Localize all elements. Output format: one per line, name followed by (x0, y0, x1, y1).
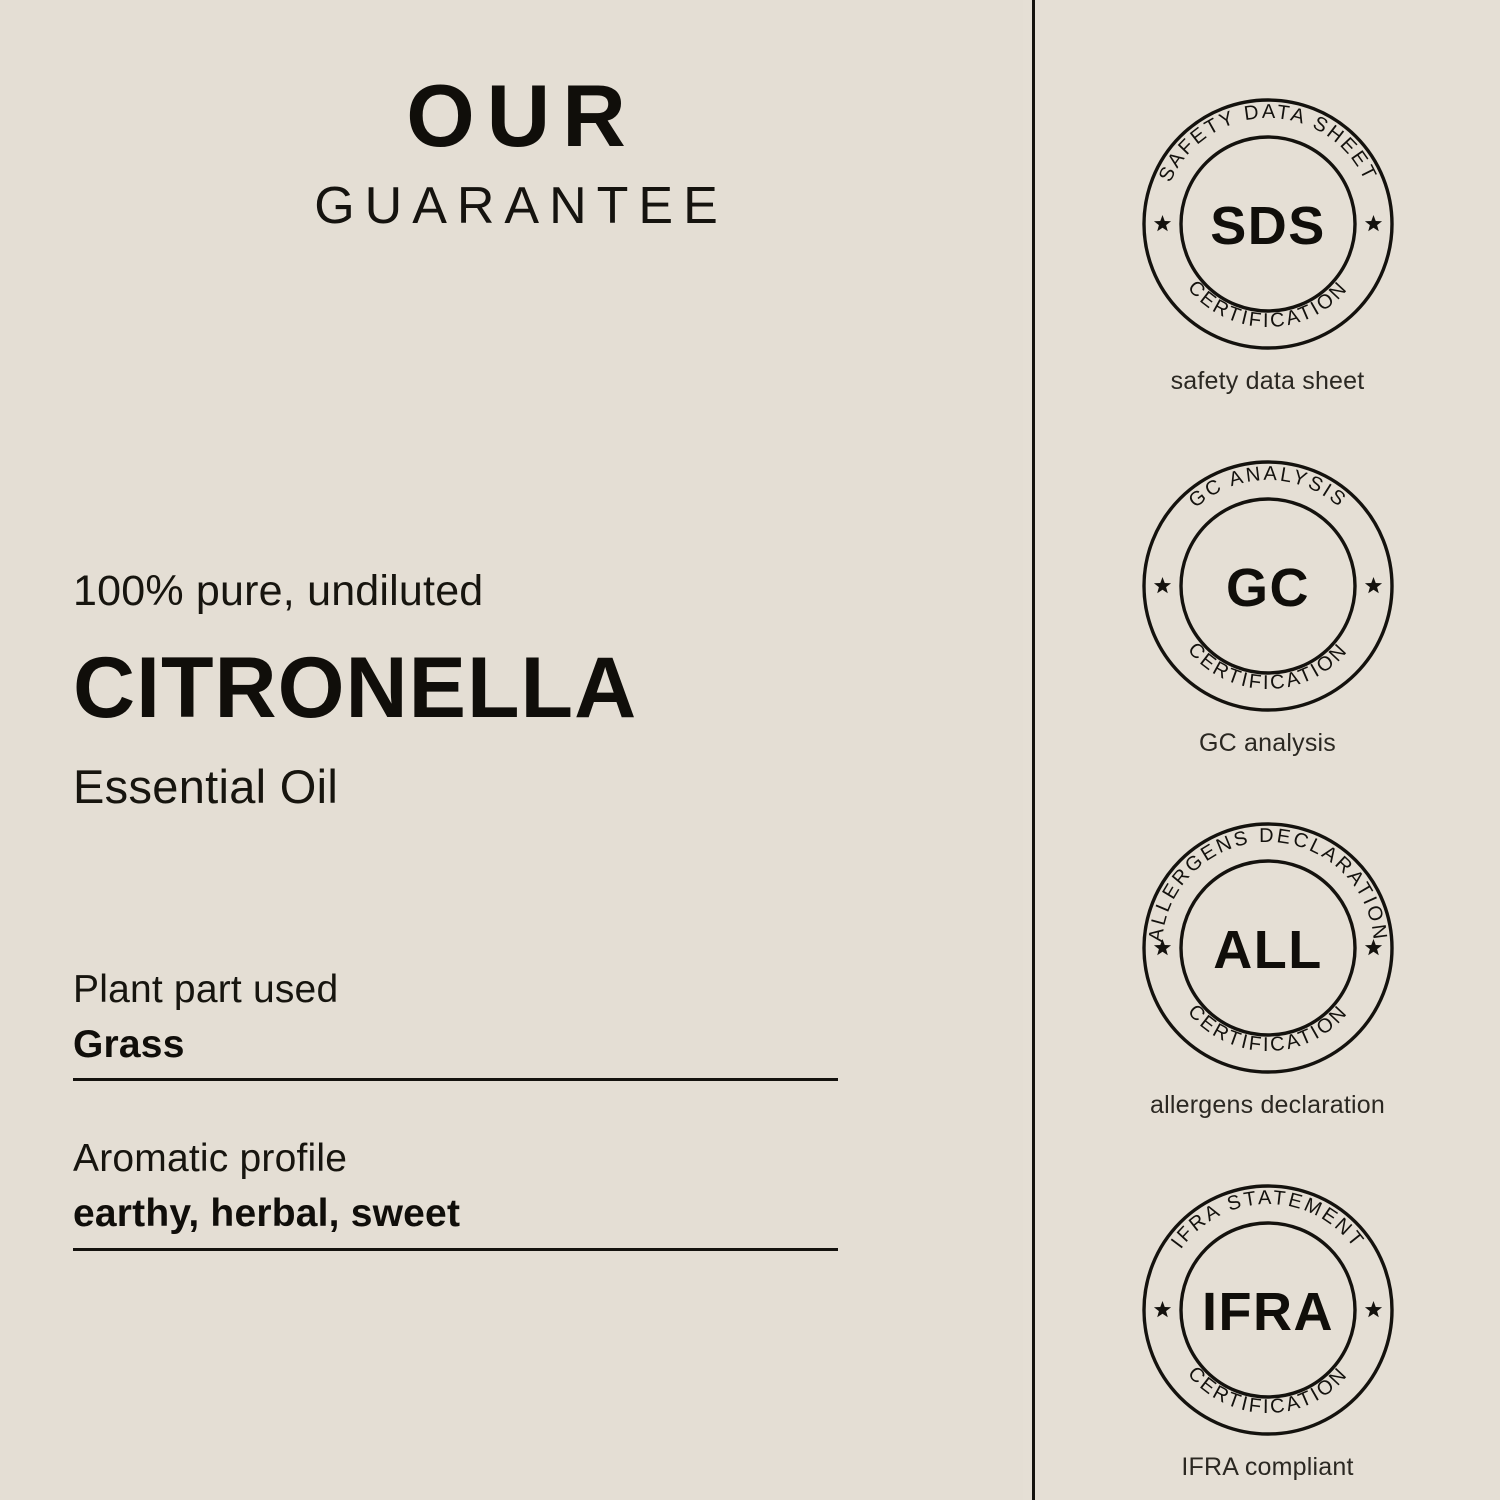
star-icon (1153, 1301, 1170, 1317)
seal-arc-top-text: IFRA STATEMENT (1167, 1187, 1369, 1253)
certification-badge[interactable]: GC ANALYSISCERTIFICATIONGCGC analysis (1035, 458, 1500, 758)
certification-badge[interactable]: SAFETY DATA SHEETCERTIFICATIONSDSsafety … (1035, 96, 1500, 396)
spec-divider (73, 1248, 838, 1251)
seal-graphic: SAFETY DATA SHEETCERTIFICATIONSDS (1140, 96, 1396, 352)
spec-divider (73, 1078, 838, 1081)
seal-graphic: GC ANALYSISCERTIFICATIONGC (1140, 458, 1396, 714)
product-name: CITRONELLA (73, 645, 973, 731)
badge-caption: allergens declaration (1150, 1090, 1385, 1120)
product-purity-claim: 100% pure, undiluted (73, 567, 973, 616)
spec-value: Grass (73, 1023, 838, 1067)
badge-caption: safety data sheet (1171, 366, 1365, 396)
star-icon (1153, 577, 1170, 593)
seal-arc-bottom-text: CERTIFICATION (1183, 277, 1352, 333)
seal-arc-top-text: SAFETY DATA SHEET (1154, 101, 1380, 185)
product-block: 100% pure, undiluted CITRONELLA Essentia… (73, 567, 973, 813)
seal-graphic: ALLERGENS DECLARATIONCERTIFICATIONALL (1140, 820, 1396, 1076)
page-title: OUR GUARANTEE (0, 72, 1032, 232)
seal-code-text: SDS (1210, 196, 1326, 256)
seal-arc-top-text: GC ANALYSIS (1184, 463, 1351, 512)
page-title-line-2: GUARANTEE (0, 180, 1032, 232)
star-icon (1364, 577, 1381, 593)
seal-arc-bottom-text: CERTIFICATION (1183, 639, 1352, 695)
certification-badge[interactable]: ALLERGENS DECLARATIONCERTIFICATIONALLall… (1035, 820, 1500, 1120)
seal-arc-bottom-text: CERTIFICATION (1183, 1363, 1352, 1419)
page-title-line-1: OUR (0, 72, 1032, 160)
certification-badge-list: SAFETY DATA SHEETCERTIFICATIONSDSsafety … (1035, 96, 1500, 1482)
spec-list: Plant part used Grass Aromatic profile e… (73, 968, 838, 1251)
seal-code-text: GC (1226, 558, 1310, 618)
seal-graphic: IFRA STATEMENTCERTIFICATIONIFRA (1140, 1182, 1396, 1438)
spec-label: Aromatic profile (73, 1137, 838, 1181)
right-column: SAFETY DATA SHEETCERTIFICATIONSDSsafety … (1035, 0, 1500, 1500)
star-icon (1364, 1301, 1381, 1317)
spec-row-aromatic-profile: Aromatic profile earthy, herbal, sweet (73, 1137, 838, 1250)
seal-code-text: ALL (1213, 920, 1322, 980)
certification-badge[interactable]: IFRA STATEMENTCERTIFICATIONIFRAIFRA comp… (1035, 1182, 1500, 1482)
spec-row-plant-part: Plant part used Grass (73, 968, 838, 1081)
star-icon (1153, 215, 1170, 231)
badge-caption: GC analysis (1199, 728, 1336, 758)
left-column: OUR GUARANTEE 100% pure, undiluted CITRO… (0, 0, 1032, 1500)
star-icon (1364, 215, 1381, 231)
seal-arc-bottom-text: CERTIFICATION (1183, 1001, 1352, 1057)
product-type: Essential Oil (73, 761, 973, 813)
guarantee-infographic: OUR GUARANTEE 100% pure, undiluted CITRO… (0, 0, 1500, 1500)
seal-code-text: IFRA (1202, 1282, 1334, 1342)
spec-label: Plant part used (73, 968, 838, 1012)
badge-caption: IFRA compliant (1181, 1452, 1353, 1482)
spec-value: earthy, herbal, sweet (73, 1192, 838, 1236)
